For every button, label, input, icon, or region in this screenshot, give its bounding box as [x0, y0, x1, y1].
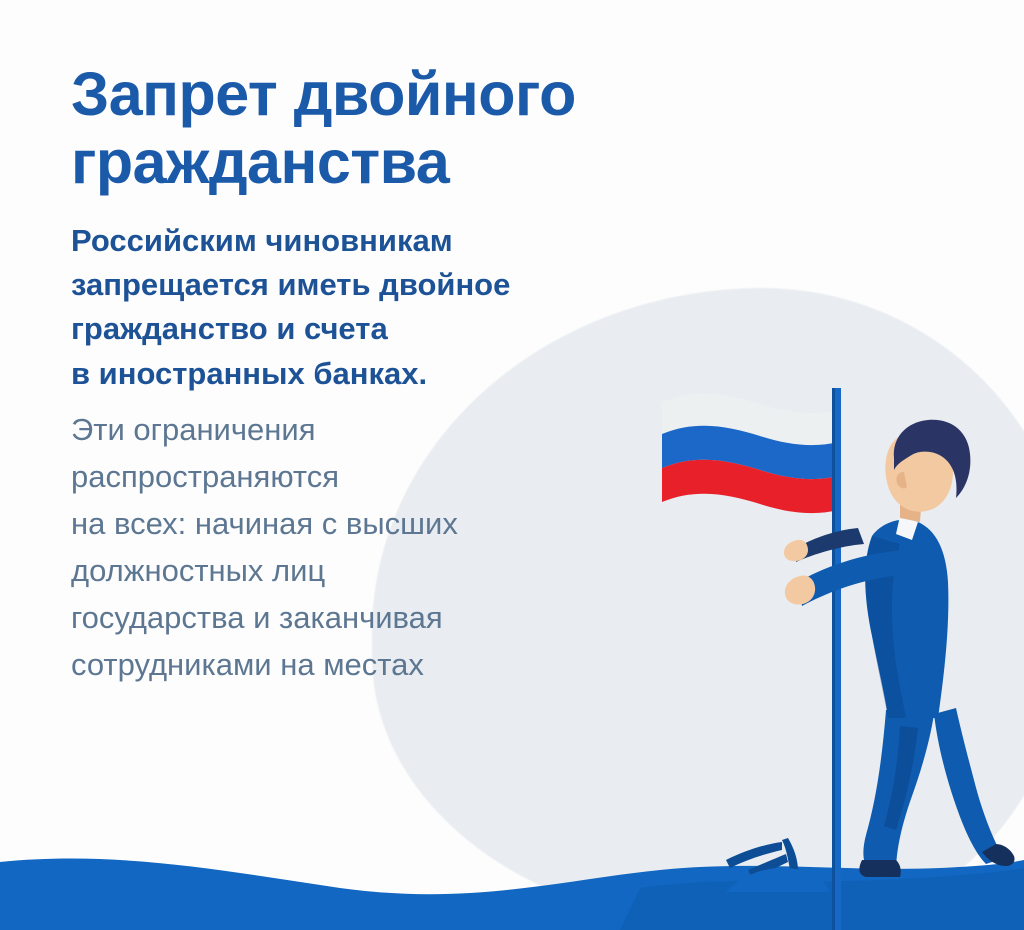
flagpole-highlight [832, 388, 835, 930]
page-title: Запрет двойного гражданства [71, 60, 691, 197]
illustration-man-with-flag [600, 330, 1024, 930]
paragraph-primary: Российским чиновникам запрещается иметь … [71, 219, 691, 396]
grass-blade-3 [782, 838, 798, 870]
text-column: Запрет двойного гражданства Российским ч… [71, 60, 691, 689]
paragraph-secondary: Эти ограничения распространяются на всех… [71, 406, 691, 689]
front-shoe [859, 860, 900, 877]
flagpole [832, 388, 841, 930]
grass-tuft [726, 838, 830, 892]
grass-mound [726, 868, 830, 892]
back-leg [934, 708, 1004, 864]
russian-flag [662, 394, 838, 513]
infographic-card: Запрет двойного гражданства Российским ч… [0, 0, 1024, 930]
